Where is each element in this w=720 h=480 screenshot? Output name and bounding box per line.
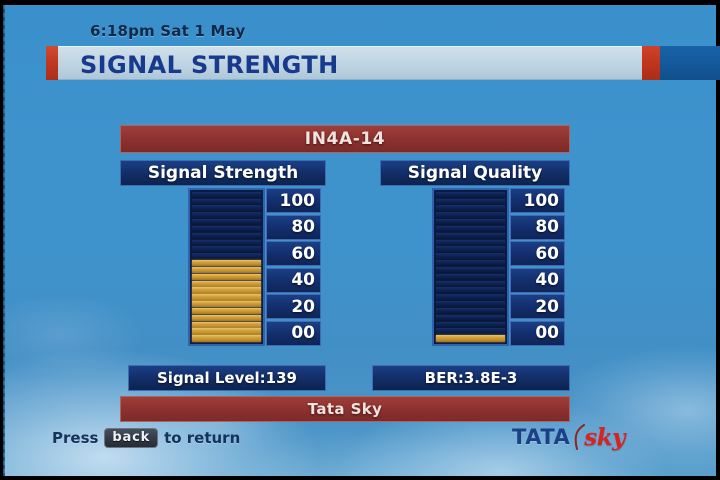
scale-label: 40 (510, 268, 565, 293)
scale-label: 80 (510, 215, 565, 240)
meter-segment (436, 328, 505, 334)
meter-segment (436, 226, 505, 232)
meter-segment (192, 212, 261, 218)
meter-segment (192, 322, 261, 328)
meter-segment (436, 274, 505, 280)
footer-hint: Press back to return (52, 428, 240, 448)
signal-strength-bar (188, 188, 265, 346)
scale-label: 60 (266, 241, 321, 266)
meter-segment (192, 267, 261, 273)
page-title: SIGNAL STRENGTH (80, 51, 339, 79)
footer-return-label: to return (164, 429, 240, 447)
title-right-blue-block (660, 46, 720, 80)
meter-segment (436, 246, 505, 252)
logo-sky-text: sky (584, 424, 625, 451)
meter-segment (436, 287, 505, 293)
meter-segment (192, 287, 261, 293)
meter-segment (436, 219, 505, 225)
signal-strength-header: Signal Strength (120, 160, 326, 186)
logo-swoosh-icon (571, 424, 587, 450)
meter-segment (436, 335, 505, 341)
tv-screen: 6:18pm Sat 1 May SIGNAL STRENGTH IN4A-14… (0, 0, 720, 480)
scale-label: 100 (510, 188, 565, 213)
scale-label: 60 (510, 241, 565, 266)
meter-segment (436, 240, 505, 246)
meter-segment (192, 281, 261, 287)
meter-segment (192, 226, 261, 232)
signal-quality-header: Signal Quality (380, 160, 570, 186)
meter-segment (436, 322, 505, 328)
meter-segment (436, 294, 505, 300)
meter-segment (192, 294, 261, 300)
meter-segment (436, 301, 505, 307)
ber-readout: BER:3.8E-3 (372, 365, 570, 391)
scale-label: 00 (266, 321, 321, 346)
meter-segment (436, 281, 505, 287)
scale-label: 40 (266, 268, 321, 293)
meter-segment (436, 205, 505, 211)
meter-segment (192, 260, 261, 266)
scale-label: 20 (510, 294, 565, 319)
meter-segment (192, 205, 261, 211)
meter-segment (192, 301, 261, 307)
title-plate: SIGNAL STRENGTH (58, 46, 642, 80)
footer-press-label: Press (52, 429, 98, 447)
meter-segment (192, 328, 261, 334)
meter-segment (436, 308, 505, 314)
meter-segment (436, 253, 505, 259)
scale-label: 20 (266, 294, 321, 319)
title-bar: SIGNAL STRENGTH (46, 46, 710, 80)
meter-segment (192, 253, 261, 259)
meter-segment (436, 233, 505, 239)
meter-segment (192, 274, 261, 280)
signal-quality-bar (432, 188, 509, 346)
meter-segment (192, 315, 261, 321)
signal-quality-scale: 1008060402000 (510, 188, 565, 346)
meter-segment (436, 192, 505, 198)
meter-segment (436, 199, 505, 205)
tata-sky-logo: TATA sky (512, 424, 625, 450)
meter-segment (436, 260, 505, 266)
meter-segment (192, 308, 261, 314)
meter-segment (192, 219, 261, 225)
signal-strength-scale: 1008060402000 (266, 188, 321, 346)
scale-label: 80 (266, 215, 321, 240)
meter-segment (192, 192, 261, 198)
back-key-button[interactable]: back (104, 428, 158, 448)
meter-segment (192, 246, 261, 252)
meter-segment (192, 233, 261, 239)
meter-segment (436, 315, 505, 321)
title-right-red-block (642, 46, 660, 80)
meter-segment (192, 335, 261, 341)
meter-segment (436, 267, 505, 273)
scale-label: 100 (266, 188, 321, 213)
logo-tata-text: TATA (512, 425, 570, 449)
clock: 6:18pm Sat 1 May (90, 22, 245, 40)
meter-segment (436, 212, 505, 218)
scale-label: 00 (510, 321, 565, 346)
title-left-accent (46, 46, 58, 80)
meter-segment (192, 199, 261, 205)
meter-segment (192, 240, 261, 246)
signal-level-readout: Signal Level:139 (128, 365, 326, 391)
satellite-banner: IN4A-14 (120, 125, 570, 153)
screen-left-edge (3, 5, 5, 476)
provider-banner: Tata Sky (120, 396, 570, 422)
